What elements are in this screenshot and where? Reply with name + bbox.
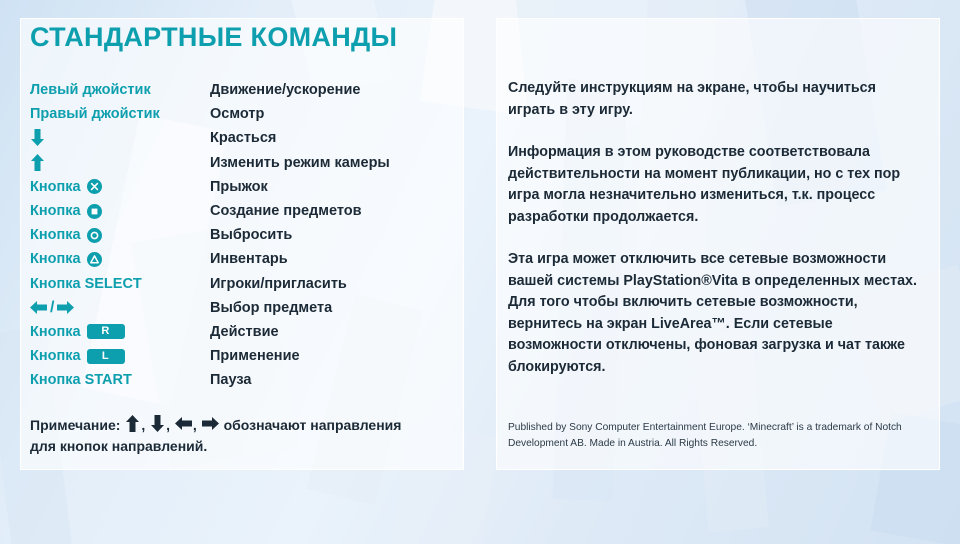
control-row: Кнопка STARTПауза xyxy=(30,368,440,392)
control-button-label: Правый джойстик xyxy=(30,106,160,122)
control-row: /Выбор предмета xyxy=(30,296,440,320)
control-row: Правый джойстикОсмотр xyxy=(30,102,440,126)
control-action-label: Пауза xyxy=(210,372,440,388)
control-button-label: Кнопка xyxy=(30,227,81,243)
note-prefix: Примечание: xyxy=(30,417,120,433)
control-action-label: Применение xyxy=(210,348,440,364)
note-middle: обозначают направления xyxy=(224,417,402,433)
arrow-right-icon xyxy=(201,417,220,433)
control-row: КнопкаLПрименение xyxy=(30,344,440,368)
control-action-label: Действие xyxy=(210,324,440,340)
manual-page: СТАНДАРТНЫЕ КОМАНДЫ Левый джойстикДвижен… xyxy=(0,0,960,544)
control-button-cell: Кнопка xyxy=(30,227,210,243)
control-action-label: Создание предметов xyxy=(210,203,440,219)
control-button-cell: Левый джойстик xyxy=(30,82,210,98)
information-paragraph: Эта игра может отключить все сетевые воз… xyxy=(508,249,926,378)
control-row: Кнопка SELECTИгроки/пригласить xyxy=(30,272,440,296)
slash-separator: / xyxy=(50,299,54,317)
ps-cross-icon xyxy=(87,179,102,194)
information-paragraph: Информация в этом руководстве соответств… xyxy=(508,142,926,228)
ps-circle-icon xyxy=(87,228,102,243)
information-paragraph: Следуйте инструкциям на экране, чтобы на… xyxy=(508,78,926,121)
control-button-label: Кнопка SELECT xyxy=(30,276,142,292)
control-row: КнопкаСоздание предметов xyxy=(30,199,440,223)
control-button-cell: Кнопка SELECT xyxy=(30,276,210,292)
arrow-up-icon xyxy=(124,417,141,433)
arrow-up-icon xyxy=(30,154,45,172)
control-row: КнопкаПрыжок xyxy=(30,175,440,199)
page-title: СТАНДАРТНЫЕ КОМАНДЫ xyxy=(30,22,397,53)
information-text: Следуйте инструкциям на экране, чтобы на… xyxy=(508,78,926,399)
control-button-label: Кнопка START xyxy=(30,372,132,388)
arrow-left-icon xyxy=(30,299,47,317)
controls-table: Левый джойстикДвижение/ускорениеПравый д… xyxy=(30,78,440,392)
control-row: Изменить режим камеры xyxy=(30,151,440,175)
control-action-label: Прыжок xyxy=(210,179,440,195)
arrow-right-icon xyxy=(57,299,74,317)
control-button-label: Кнопка xyxy=(30,348,81,364)
control-action-label: Красться xyxy=(210,130,440,146)
control-button-label: Левый джойстик xyxy=(30,82,151,98)
shoulder-key-l: L xyxy=(87,349,125,364)
control-button-cell: Кнопка START xyxy=(30,372,210,388)
control-action-label: Изменить режим камеры xyxy=(210,155,440,171)
control-button-cell: / xyxy=(30,299,210,317)
control-button-cell: Кнопка xyxy=(30,251,210,267)
control-action-label: Игроки/пригласить xyxy=(210,276,440,292)
shoulder-key-r: R xyxy=(87,324,125,339)
arrow-left-icon xyxy=(174,417,193,433)
arrow-down-icon xyxy=(149,417,166,433)
control-action-label: Выбор предмета xyxy=(210,300,440,316)
control-button-label: Кнопка xyxy=(30,179,81,195)
control-button-cell: Кнопка xyxy=(30,179,210,195)
control-button-label: Кнопка xyxy=(30,203,81,219)
control-button-cell: Правый джойстик xyxy=(30,106,210,122)
control-row: Красться xyxy=(30,126,440,150)
control-action-label: Движение/ускорение xyxy=(210,82,440,98)
directions-note: Примечание: , , , обозначают направления… xyxy=(30,415,430,457)
control-row: КнопкаВыбросить xyxy=(30,223,440,247)
control-row: Левый джойстикДвижение/ускорение xyxy=(30,78,440,102)
control-button-label: Кнопка xyxy=(30,251,81,267)
control-button-label: Кнопка xyxy=(30,324,81,340)
control-action-label: Осмотр xyxy=(210,106,440,122)
control-button-cell: Кнопка xyxy=(30,203,210,219)
control-button-cell xyxy=(30,154,210,172)
control-button-cell xyxy=(30,129,210,147)
control-action-label: Выбросить xyxy=(210,227,440,243)
control-button-cell: КнопкаL xyxy=(30,348,210,364)
note-line2: для кнопок направлений. xyxy=(30,438,207,454)
control-row: КнопкаИнвентарь xyxy=(30,247,440,271)
legal-notice: Published by Sony Computer Entertainment… xyxy=(508,420,926,451)
ps-square-icon xyxy=(87,204,102,219)
control-action-label: Инвентарь xyxy=(210,251,440,267)
control-button-cell: КнопкаR xyxy=(30,324,210,340)
arrow-down-icon xyxy=(30,129,45,147)
control-row: КнопкаRДействие xyxy=(30,320,440,344)
ps-triangle-icon xyxy=(87,252,102,267)
